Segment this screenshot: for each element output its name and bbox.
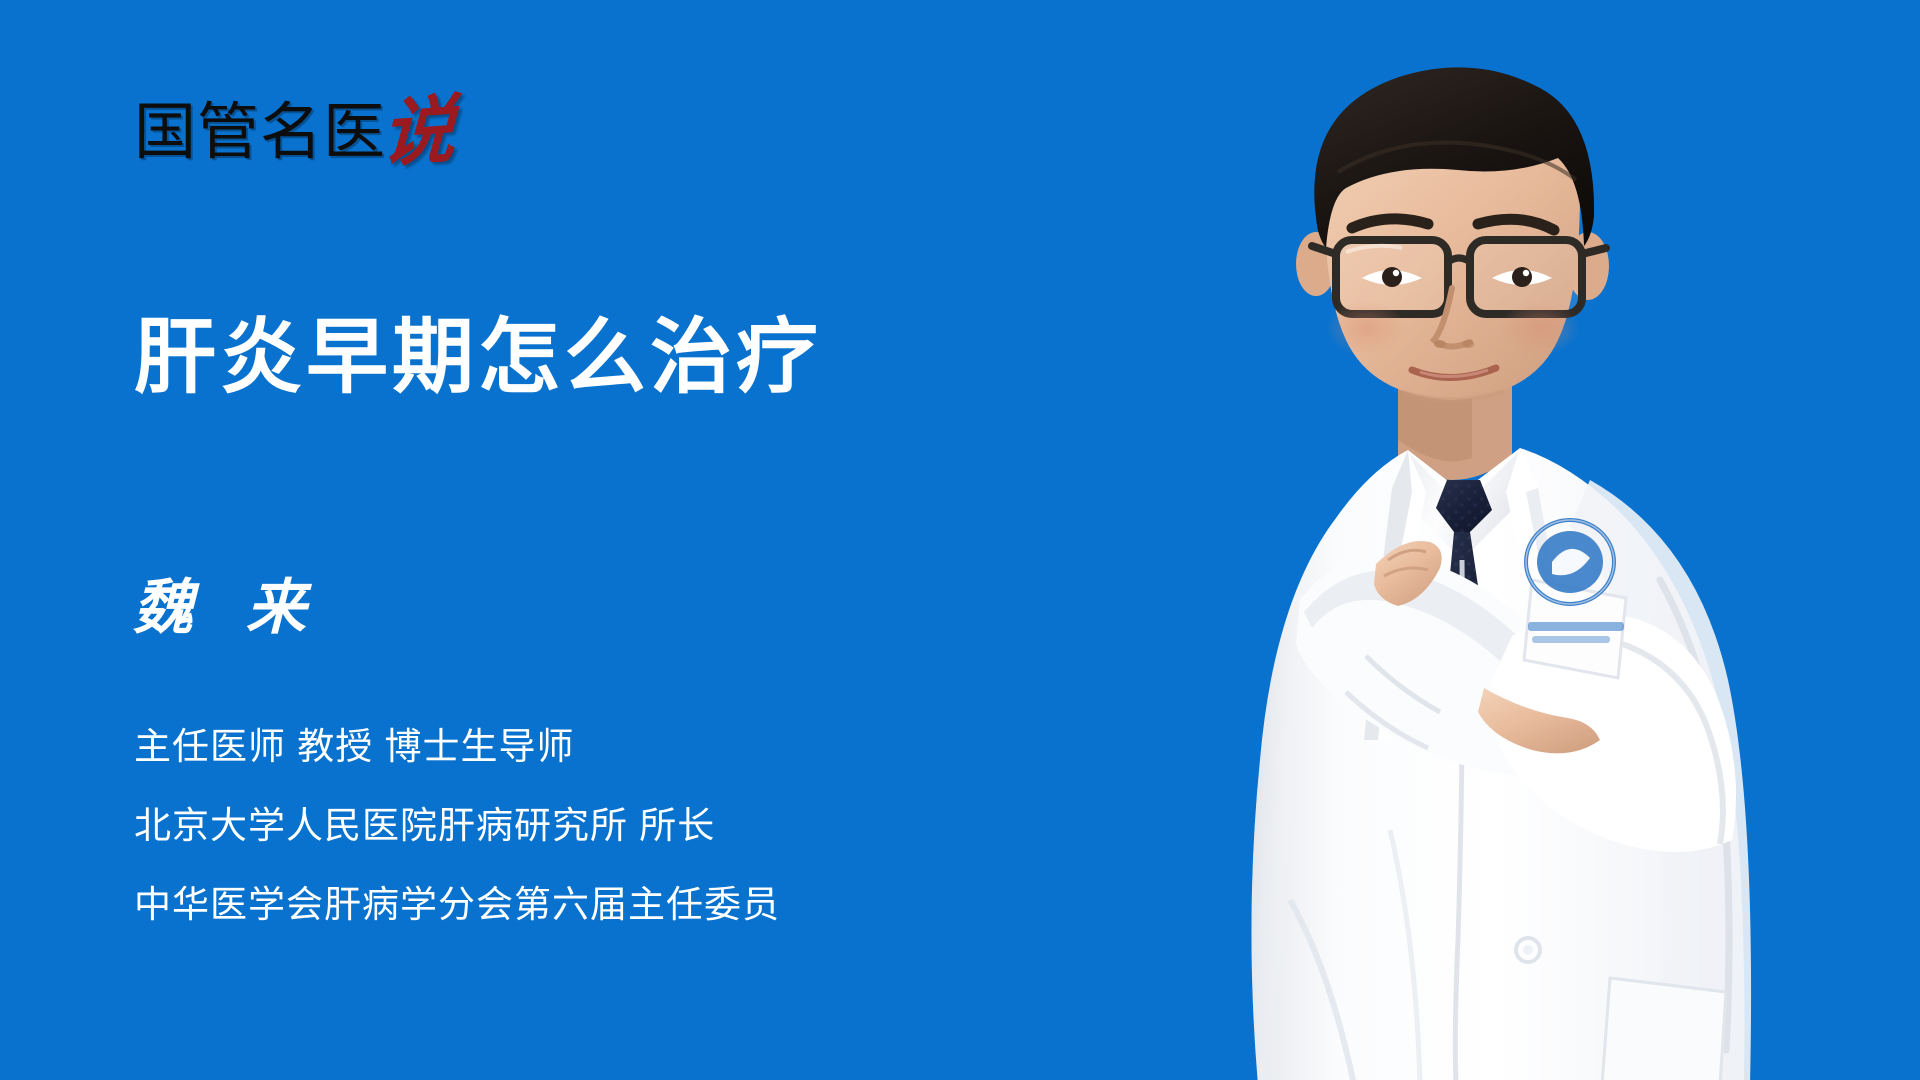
eyeglasses-icon [1312, 240, 1606, 314]
page-title: 肝炎早期怎么治疗 [134, 317, 822, 399]
credential-line: 中华医学会肝病学分会第六届主任委员 [134, 886, 780, 925]
doctor-portrait-photo [1140, 40, 1920, 1080]
doctor-name: 魏 来 [133, 578, 322, 638]
credential-line: 主任医师 教授 博士生导师 [134, 728, 780, 767]
hospital-badge-icon [1526, 520, 1614, 604]
doctor-credentials: 主任医师 教授 博士生导师 北京大学人民医院肝病研究所 所长 中华医学会肝病学分… [134, 728, 780, 925]
credential-line: 北京大学人民医院肝病研究所 所长 [134, 807, 780, 846]
slide-canvas: 国管名医 说 肝炎早期怎么治疗 魏 来 主任医师 教授 博士生导师 北京大学人民… [0, 0, 1920, 1080]
brand-logo-accent-text: 说 [380, 94, 456, 170]
brand-logo: 国管名医 说 [134, 86, 454, 164]
brand-logo-main-text: 国管名医 [134, 102, 386, 164]
